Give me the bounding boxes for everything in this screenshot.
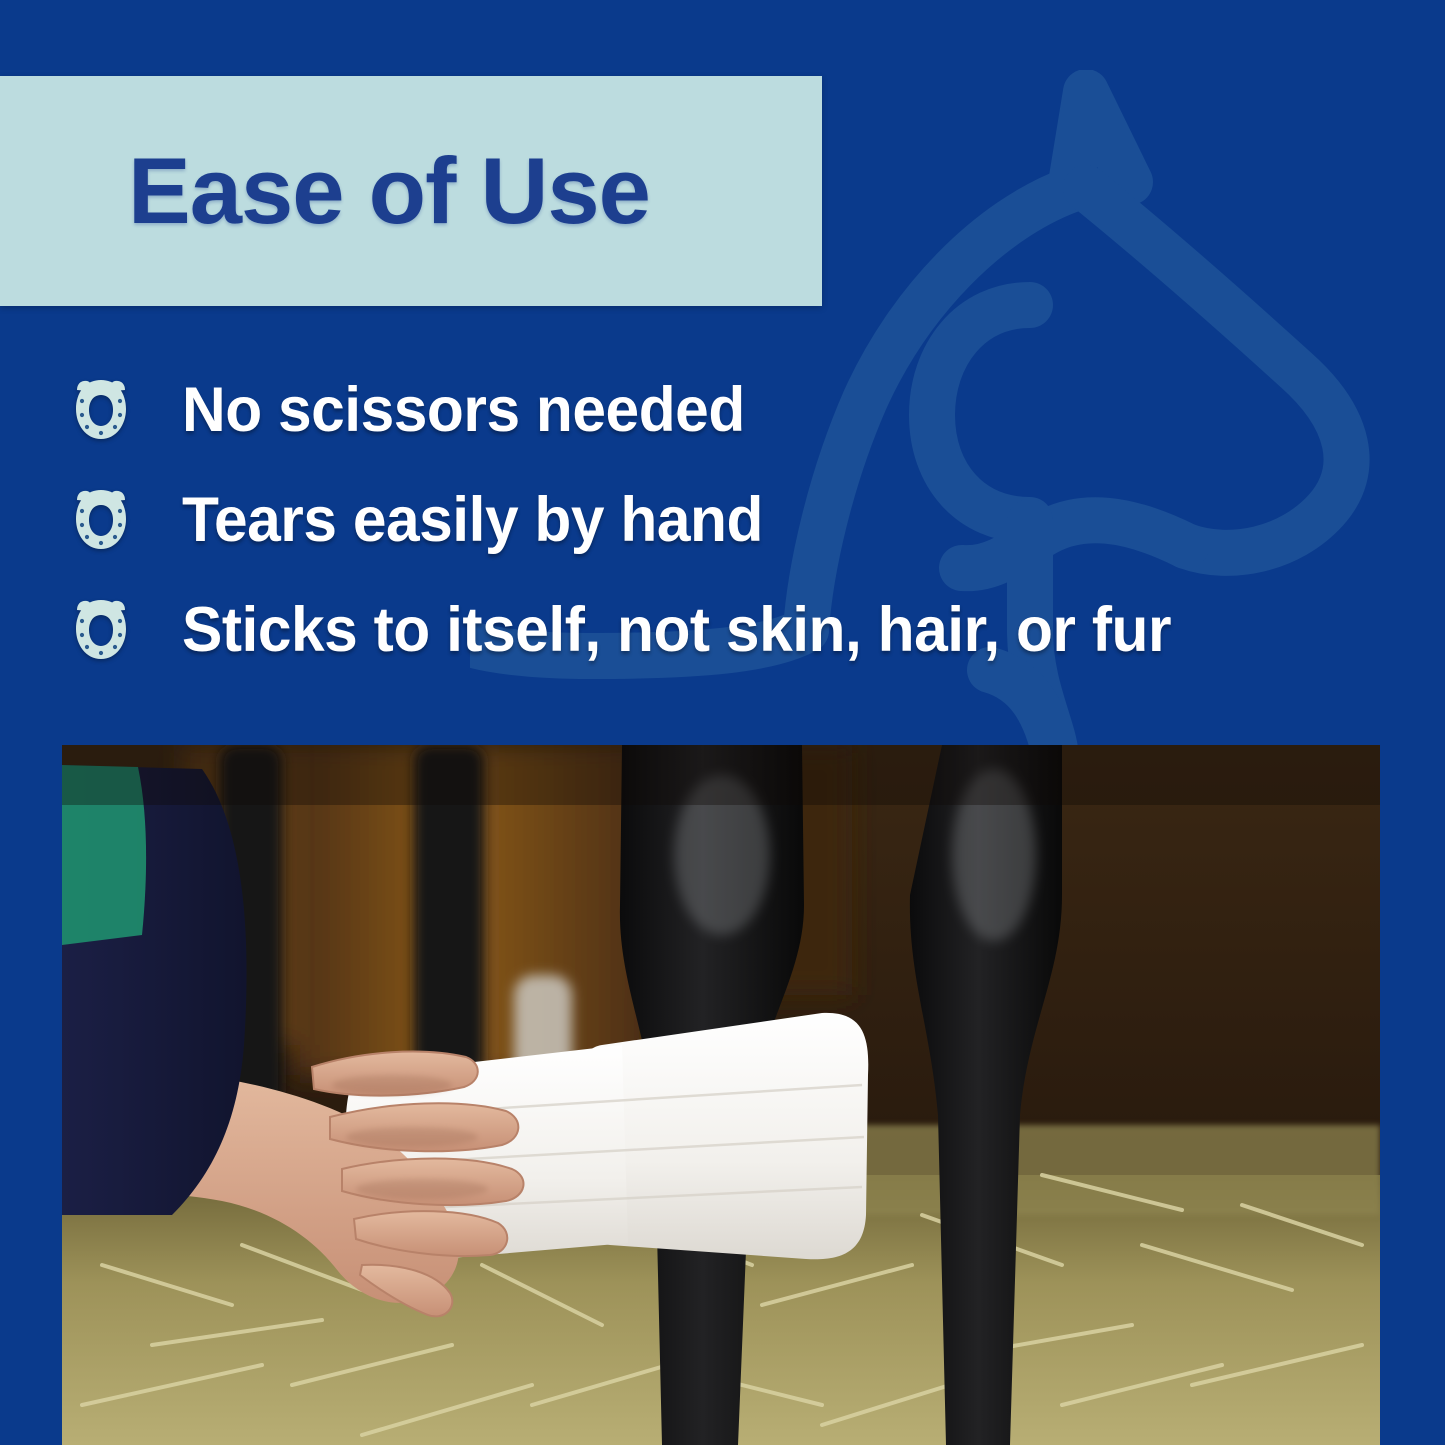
title-banner: Ease of Use [0, 76, 822, 306]
list-item-label: No scissors needed [182, 378, 745, 442]
product-photo [62, 745, 1380, 1445]
list-item: No scissors needed [62, 355, 1402, 465]
page-title: Ease of Use [128, 144, 650, 238]
list-item: Sticks to itself, not skin, hair, or fur [62, 575, 1402, 685]
infographic-root: Ease of Use [0, 0, 1445, 1445]
horseshoe-icon [70, 487, 132, 553]
list-item: Tears easily by hand [62, 465, 1402, 575]
list-item-label: Tears easily by hand [182, 488, 763, 552]
list-item-label: Sticks to itself, not skin, hair, or fur [182, 598, 1171, 662]
horseshoe-icon [70, 377, 132, 443]
feature-bullet-list: No scissors needed [62, 355, 1402, 685]
horseshoe-icon [70, 597, 132, 663]
